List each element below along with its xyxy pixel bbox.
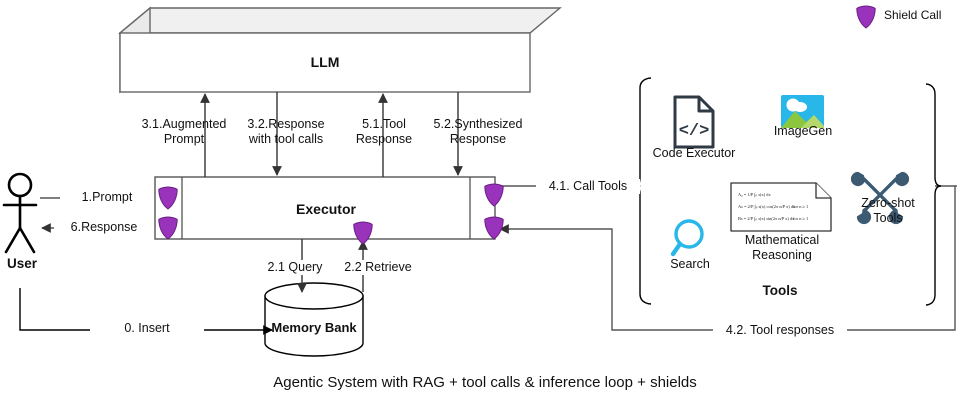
tool-label-search: Search [654, 257, 726, 272]
edge-label-22-retrieve: 2.2 Retrieve [330, 260, 426, 275]
edge-label-31: 3.1.Augmented Prompt [138, 117, 230, 147]
user-actor [4, 174, 36, 252]
svg-text:</>: </> [679, 122, 710, 141]
edge-label-42-tool-responses: 4.2. Tool responses [713, 323, 847, 338]
diagram-canvas: </> A₀ = 1/P ∫ₚ s(x) dx Aₙ = 2/P ∫ₚ s(x)… [0, 0, 970, 411]
shield-icon-executor-bottom [354, 222, 372, 244]
user-label: User [0, 256, 44, 271]
diagram-caption: Agentic System with RAG + tool calls & i… [0, 374, 970, 391]
edge-label-6-response: 6.Response [54, 220, 154, 235]
executor-label: Executor [182, 201, 470, 217]
tool-label-imagegen: ImageGen [763, 124, 843, 139]
edge-label-32: 3.2.Response with tool calls [236, 117, 336, 147]
edge-label-41-call-tools: 4.1. Call Tools [536, 179, 640, 194]
llm-node [120, 8, 560, 92]
tools-right-brace [926, 84, 941, 305]
tool-label-code-executor: Code Executor [648, 146, 740, 161]
tool-label-zero-shot-tools: Zero-shot Tools [838, 196, 938, 226]
tools-group-label: Tools [730, 283, 830, 298]
tool-label-mathematical-reasoning: Mathematical Reasoning [726, 233, 838, 263]
edge-label-1-prompt: 1.Prompt [60, 190, 154, 205]
shield-icon-legend [857, 6, 875, 28]
edge-label-21-query: 2.1 Query [253, 260, 337, 275]
legend-shield-call-label: Shield Call [884, 8, 941, 22]
edge-label-52: 5.2.Synthesized Response [428, 117, 528, 147]
svg-text:for n ≥ 1: for n ≥ 1 [793, 204, 808, 209]
llm-label: LLM [120, 54, 530, 70]
edge-label-0-insert: 0. Insert [90, 321, 204, 336]
magnifier-icon [673, 221, 702, 254]
memory-bank-label: Memory Bank [265, 320, 363, 335]
code-document-icon: </> [675, 97, 713, 147]
svg-text:for n ≥ 1: for n ≥ 1 [793, 216, 808, 221]
edge-label-51: 5.1.Tool Response [344, 117, 424, 147]
formula-document-icon: A₀ = 1/P ∫ₚ s(x) dx Aₙ = 2/P ∫ₚ s(x) cos… [731, 183, 831, 231]
